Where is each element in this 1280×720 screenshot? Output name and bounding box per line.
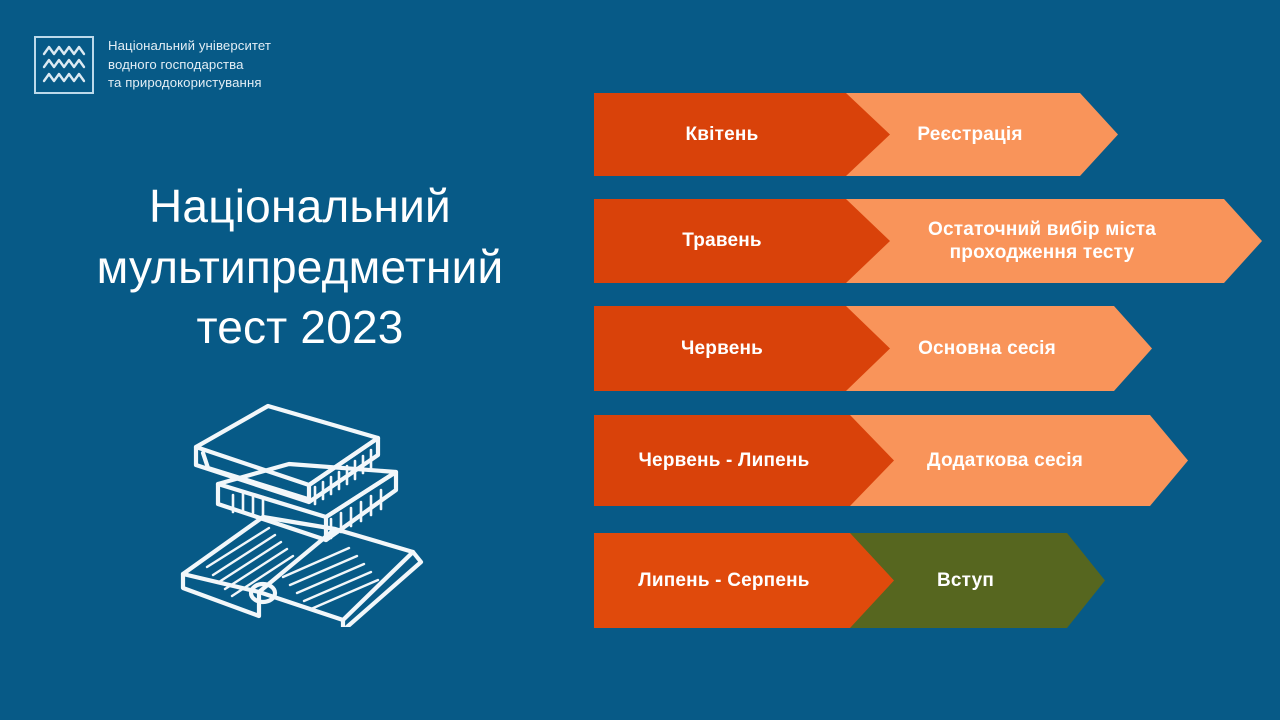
timeline-row: Реєстрація Квітень <box>594 93 1154 176</box>
stage-label: Реєстрація <box>917 123 1022 146</box>
university-logo: Національний університет водного господа… <box>34 36 271 94</box>
month-arrow[interactable]: Квітень <box>594 93 890 176</box>
page-title-line-1: Національний <box>40 176 560 237</box>
wave-lines-square-icon <box>34 36 94 94</box>
month-label: Травень <box>682 229 762 252</box>
books-stack-open-book-icon <box>163 392 448 627</box>
month-label: Червень - Липень <box>639 449 810 472</box>
month-label: Липень - Серпень <box>638 569 809 592</box>
timeline-row: Основна сесія Червень <box>594 306 1194 391</box>
month-label: Квітень <box>686 123 759 146</box>
logo-line-2: водного господарства <box>108 56 271 75</box>
stage-label: Вступ <box>937 569 994 592</box>
page-title-line-2: мультипредметний <box>40 237 560 298</box>
stage-label: Основна сесія <box>918 337 1056 360</box>
logo-line-3: та природокористування <box>108 74 271 93</box>
month-arrow[interactable]: Червень <box>594 306 890 391</box>
month-arrow[interactable]: Червень - Липень <box>594 415 894 506</box>
stage-label: Додаткова сесія <box>927 449 1083 472</box>
timeline-row: Остаточний вибір міста проходження тесту… <box>594 199 1280 283</box>
month-arrow[interactable]: Травень <box>594 199 890 283</box>
page-title: Національний мультипредметний тест 2023 <box>40 176 560 358</box>
stage-arrow[interactable]: Остаточний вибір міста проходження тесту <box>842 199 1262 283</box>
stage-label-line-2: проходження тесту <box>950 242 1135 263</box>
timeline-row: Вступ Липень - Серпень <box>594 533 1154 628</box>
page-title-line-3: тест 2023 <box>40 297 560 358</box>
month-arrow[interactable]: Липень - Серпень <box>594 533 894 628</box>
slide-canvas: Національний університет водного господа… <box>0 0 1280 720</box>
logo-line-1: Національний університет <box>108 37 271 56</box>
stage-label: Остаточний вибір міста проходження тесту <box>928 218 1156 264</box>
timeline-row: Додаткова сесія Червень - Липень <box>594 415 1234 506</box>
month-label: Червень <box>681 337 763 360</box>
university-logo-text: Національний університет водного господа… <box>108 36 271 93</box>
stage-label-line-1: Остаточний вибір міста <box>928 219 1156 240</box>
